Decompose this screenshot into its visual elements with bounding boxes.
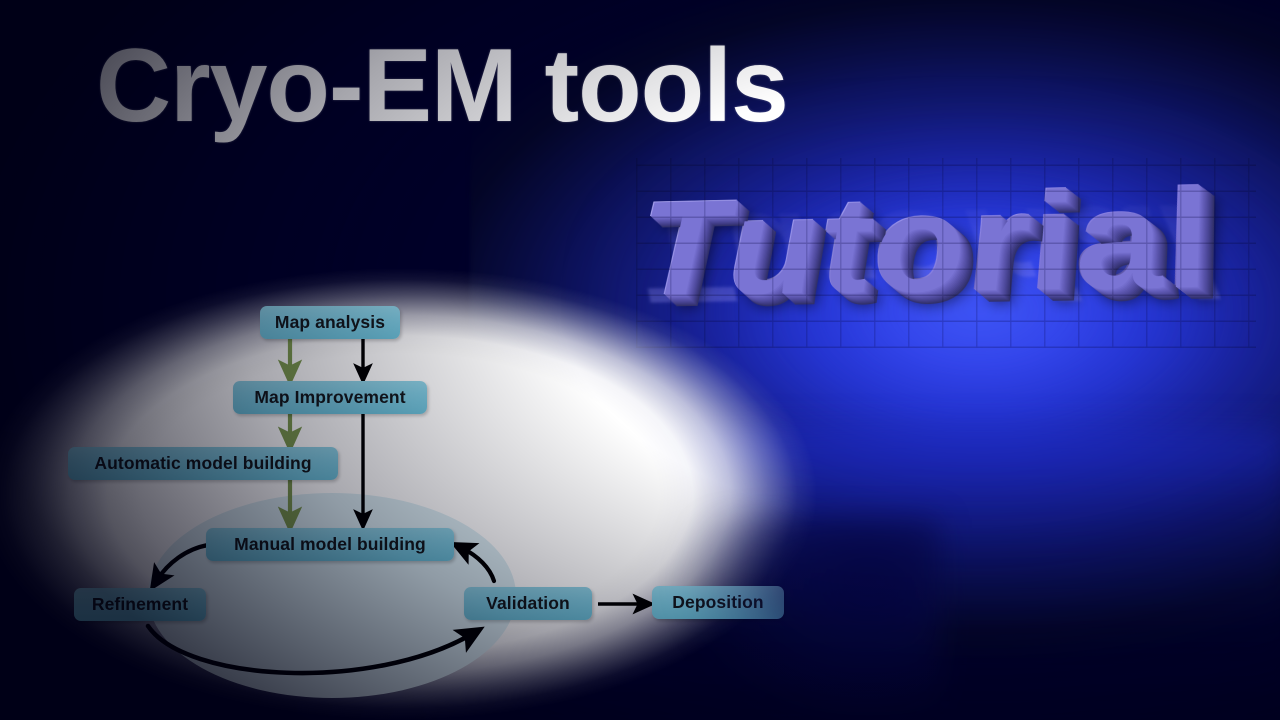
node-deposition[interactable]: Deposition [652,586,784,619]
diagram-arrows [0,268,836,720]
node-refinement[interactable]: Refinement [74,588,206,621]
node-map-improvement[interactable]: Map Improvement [233,381,427,414]
node-map-analysis[interactable]: Map analysis [260,306,400,339]
edge-validation-to-manual [462,548,494,581]
edge-manual-to-refinement [157,545,208,580]
workflow-diagram: Map analysis Map Improvement Automatic m… [0,268,836,720]
page-title: Cryo-EM tools [96,34,788,138]
slide-root: Tutorial Tutorial Cryo-EM tools [0,0,1280,720]
edge-refinement-to-validation [148,626,472,673]
node-automatic-model-building[interactable]: Automatic model building [68,447,338,480]
node-validation[interactable]: Validation [464,587,592,620]
node-manual-model-building[interactable]: Manual model building [206,528,454,561]
